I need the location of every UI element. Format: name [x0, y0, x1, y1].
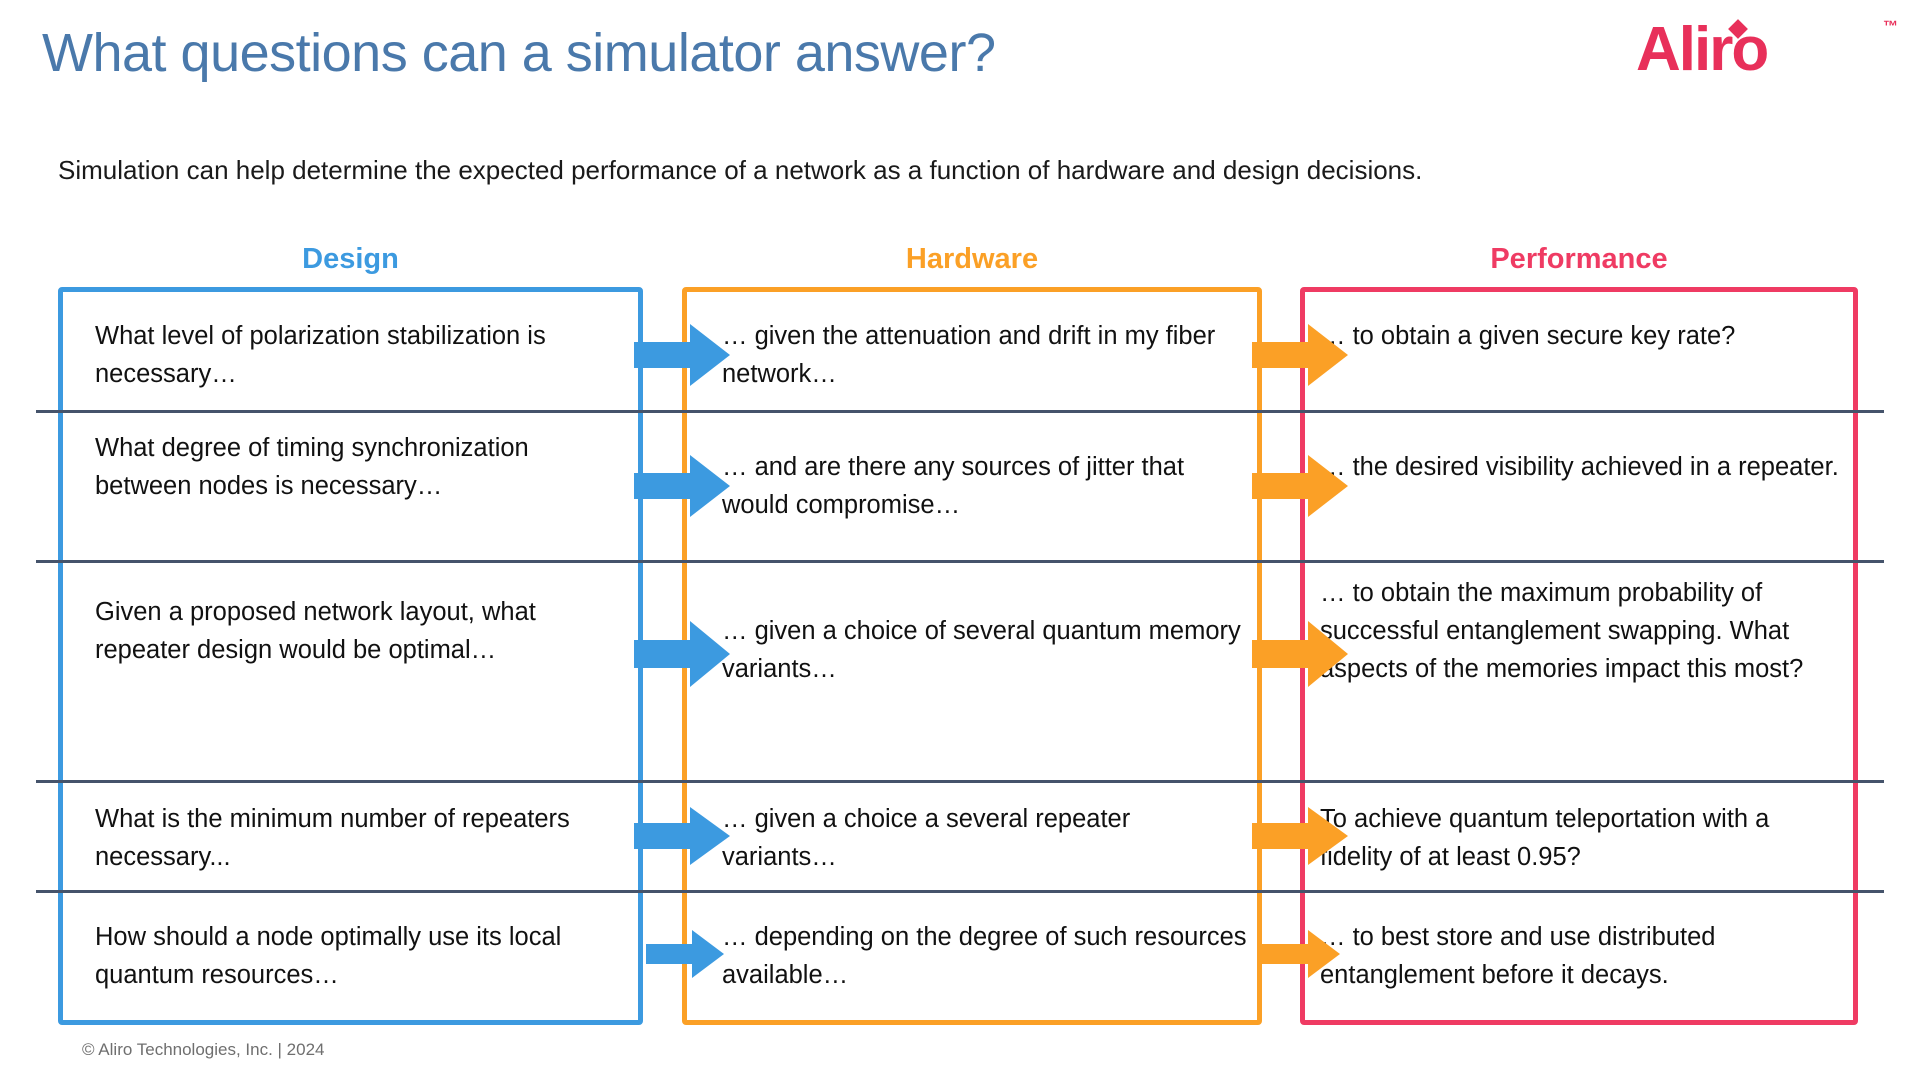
page-subtitle: Simulation can help determine the expect… — [58, 155, 1422, 186]
right-arrow-icon-hardware-performance-2 — [1252, 455, 1348, 517]
row-divider — [36, 560, 1884, 563]
row-divider — [36, 890, 1884, 893]
aliro-logo: Aliro ™ — [1636, 14, 1876, 86]
cell-performance-4: To achieve quantum teleportation with a … — [1320, 800, 1848, 876]
right-arrow-icon-hardware-performance-1 — [1252, 324, 1348, 386]
cell-design-5: How should a node optimally use its loca… — [95, 918, 625, 994]
row-divider — [36, 780, 1884, 783]
cell-hardware-1: … given the attenuation and drift in my … — [722, 317, 1252, 393]
right-arrow-icon-hardware-performance-4 — [1252, 807, 1348, 865]
right-arrow-icon-design-hardware-2 — [634, 455, 730, 517]
aliro-logo-wordmark: Aliro — [1636, 14, 1767, 86]
right-arrow-icon-design-hardware-4 — [634, 807, 730, 865]
column-header-design: Design — [58, 243, 643, 276]
cell-hardware-4: … given a choice a several repeater vari… — [722, 800, 1252, 876]
right-arrow-icon-design-hardware-1 — [634, 324, 730, 386]
trademark-icon: ™ — [1883, 18, 1898, 35]
cell-hardware-2: … and are there any sources of jitter th… — [722, 448, 1252, 524]
column-header-performance: Performance — [1300, 243, 1858, 276]
cell-hardware-5: … depending on the degree of such resour… — [722, 918, 1252, 994]
cell-performance-2: … the desired visibility achieved in a r… — [1320, 448, 1848, 486]
right-arrow-icon-design-hardware-5 — [646, 930, 724, 978]
right-arrow-icon-hardware-performance-5 — [1262, 930, 1340, 978]
cell-design-4: What is the minimum number of repeaters … — [95, 800, 625, 876]
cell-design-2: What degree of timing synchronization be… — [95, 429, 625, 505]
right-arrow-icon-hardware-performance-3 — [1252, 621, 1348, 687]
cell-design-3: Given a proposed network layout, what re… — [95, 593, 625, 669]
page-title: What questions can a simulator answer? — [42, 22, 995, 84]
cell-performance-3: … to obtain the maximum probability of s… — [1320, 574, 1848, 688]
cell-performance-5: … to best store and use distributed enta… — [1320, 918, 1848, 994]
right-arrow-icon-design-hardware-3 — [634, 621, 730, 687]
cell-performance-1: … to obtain a given secure key rate? — [1320, 317, 1848, 355]
cell-design-1: What level of polarization stabilization… — [95, 317, 625, 393]
column-header-hardware: Hardware — [682, 243, 1262, 276]
row-divider — [36, 410, 1884, 413]
footer-copyright: © Aliro Technologies, Inc. | 2024 — [82, 1040, 325, 1060]
cell-hardware-3: … given a choice of several quantum memo… — [722, 612, 1252, 688]
